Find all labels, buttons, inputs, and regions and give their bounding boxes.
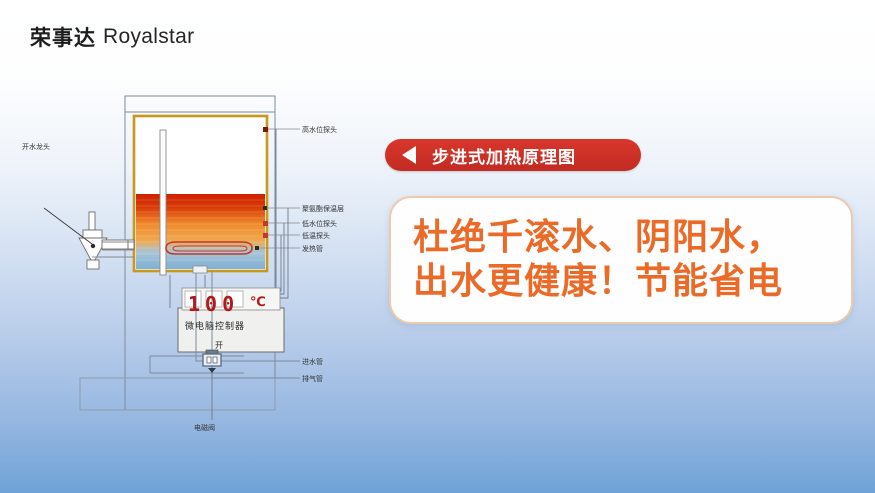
controller-caption: 微电脑控制器 bbox=[185, 319, 245, 332]
label-solenoid-valve: 电磁阀 bbox=[194, 423, 215, 433]
brand-name-en: Royalstar bbox=[103, 25, 194, 49]
label-low-level-probe: 低水位探头 bbox=[302, 219, 337, 229]
label-inlet-pipe: 进水管 bbox=[302, 357, 323, 367]
temperature-value: 100 bbox=[188, 292, 239, 316]
label-insulation-layer: 聚氨酯保温层 bbox=[302, 204, 344, 214]
label-faucet: 开水龙头 bbox=[22, 142, 50, 152]
headline-line-1: 杜绝千滚水、阴阳水， bbox=[413, 216, 851, 260]
slide-canvas: 荣事达 Royalstar 步进式加热原理图 杜绝千滚水、阴阳水， 出水更健康！… bbox=[0, 0, 875, 493]
headline-line-2: 出水更健康！节能省电 bbox=[413, 260, 851, 304]
temperature-unit: ℃ bbox=[250, 295, 266, 310]
label-high-level-probe: 高水位探头 bbox=[302, 125, 337, 135]
water-heater-diagram: 开水龙头 高水位探头 聚氨酯保温层 低水位探头 低温探头 发热管 进水管 排气管… bbox=[0, 60, 390, 460]
brand-logo: 荣事达 Royalstar bbox=[30, 22, 194, 52]
headline-card: 杜绝千滚水、阴阳水， 出水更健康！节能省电 bbox=[389, 196, 853, 324]
brand-name-cn: 荣事达 bbox=[30, 22, 96, 52]
diagram-svg bbox=[0, 60, 390, 460]
triangle-left-icon bbox=[402, 146, 416, 164]
section-badge: 步进式加热原理图 bbox=[385, 139, 641, 171]
section-badge-label: 步进式加热原理图 bbox=[432, 143, 576, 168]
drain-nub bbox=[193, 266, 207, 273]
faucet-leader bbox=[44, 208, 92, 244]
label-low-temp-probe: 低温探头 bbox=[302, 231, 330, 241]
label-heating-tube: 发热管 bbox=[302, 244, 323, 254]
standpipe bbox=[160, 130, 166, 275]
valve-state-label: 开 bbox=[215, 340, 223, 351]
label-exhaust-pipe: 排气管 bbox=[302, 374, 323, 384]
